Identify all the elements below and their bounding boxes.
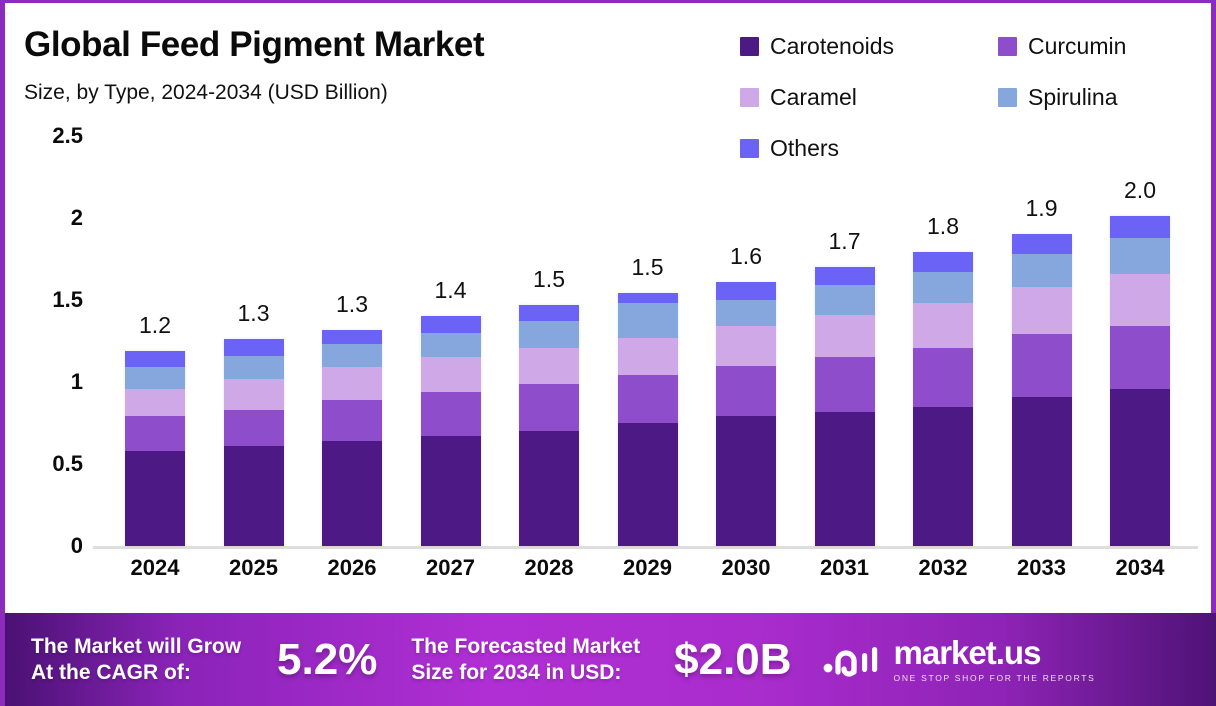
y-axis-tick: 0.5 <box>52 451 83 477</box>
bar-column[interactable]: 1.9 <box>1012 234 1072 546</box>
market-us-logo-icon <box>822 641 884 679</box>
bar-value-label: 1.9 <box>1026 195 1058 222</box>
bar-segment-others[interactable] <box>125 351 185 367</box>
bar-segment-carotenoids[interactable] <box>1012 397 1072 546</box>
bar-segment-caramel[interactable] <box>1110 274 1170 326</box>
bar-segment-spirulina[interactable] <box>1110 238 1170 274</box>
bar-segment-caramel[interactable] <box>224 379 284 410</box>
logo-text: market.us ONE STOP SHOP FOR THE REPORTS <box>894 636 1096 683</box>
x-axis-tick: 2034 <box>1091 555 1189 581</box>
stacked-bar[interactable] <box>1110 216 1170 546</box>
bar-value-label: 1.3 <box>238 300 270 327</box>
bar-segment-carotenoids[interactable] <box>421 436 481 546</box>
bar-segment-others[interactable] <box>322 330 382 345</box>
forecast-label: The Forecasted Market Size for 2034 in U… <box>411 634 640 685</box>
bar-segment-spirulina[interactable] <box>125 367 185 388</box>
legend-item-label: Caramel <box>770 84 857 111</box>
bar-segment-carotenoids[interactable] <box>519 431 579 546</box>
bar-segment-spirulina[interactable] <box>815 285 875 315</box>
bar-segment-others[interactable] <box>421 316 481 332</box>
bar-segment-carotenoids[interactable] <box>815 412 875 546</box>
infographic-root: Global Feed Pigment Market Size, by Type… <box>0 0 1216 706</box>
bar-segment-curcumin[interactable] <box>224 410 284 446</box>
x-axis-baseline <box>93 546 1198 549</box>
bar-segment-caramel[interactable] <box>1012 287 1072 335</box>
x-axis-tick: 2024 <box>106 555 204 581</box>
stacked-bar[interactable] <box>913 252 973 546</box>
y-axis-tick: 2.5 <box>52 123 83 149</box>
bar-segment-caramel[interactable] <box>913 303 973 347</box>
bar-segment-spirulina[interactable] <box>421 333 481 358</box>
market-us-logo[interactable]: market.us ONE STOP SHOP FOR THE REPORTS <box>822 636 1096 683</box>
bar-segment-caramel[interactable] <box>125 389 185 417</box>
forecast-label-line2: Size for 2034 in USD: <box>411 660 640 686</box>
bar-segment-spirulina[interactable] <box>1012 254 1072 287</box>
bar-segment-others[interactable] <box>716 282 776 300</box>
bar-segment-others[interactable] <box>519 305 579 321</box>
cagr-label: The Market will Grow At the CAGR of: <box>31 634 241 685</box>
forecast-value: $2.0B <box>674 635 791 685</box>
x-axis-tick: 2031 <box>796 555 894 581</box>
bar-column[interactable]: 1.4 <box>421 316 481 546</box>
y-axis: 00.511.522.5 <box>5 113 93 553</box>
bar-value-label: 1.5 <box>632 254 664 281</box>
bar-segment-curcumin[interactable] <box>1110 326 1170 388</box>
stacked-bar[interactable] <box>125 351 185 546</box>
bar-value-label: 2.0 <box>1124 177 1156 204</box>
bar-segment-curcumin[interactable] <box>125 416 185 450</box>
bar-value-label: 1.7 <box>829 228 861 255</box>
legend-item-label: Carotenoids <box>770 33 894 60</box>
bar-segment-spirulina[interactable] <box>519 321 579 347</box>
bar-column[interactable]: 1.8 <box>913 252 973 546</box>
x-axis-labels: 2024202520262027202820292030203120322033… <box>93 555 1198 595</box>
bar-segment-caramel[interactable] <box>618 338 678 376</box>
x-axis-tick: 2028 <box>500 555 598 581</box>
bar-value-label: 1.4 <box>435 277 467 304</box>
bar-segment-curcumin[interactable] <box>519 384 579 432</box>
bar-column[interactable]: 2.0 <box>1110 216 1170 546</box>
bar-column[interactable]: 1.3 <box>322 330 382 546</box>
bar-segment-caramel[interactable] <box>519 348 579 384</box>
cagr-value: 5.2% <box>277 635 377 685</box>
legend-item-label: Spirulina <box>1028 84 1118 111</box>
cagr-label-line1: The Market will Grow <box>31 634 241 660</box>
bar-column[interactable]: 1.7 <box>815 267 875 546</box>
stacked-bar[interactable] <box>224 339 284 546</box>
cagr-label-line2: At the CAGR of: <box>31 660 241 686</box>
x-axis-tick: 2030 <box>697 555 795 581</box>
legend-item-carotenoids[interactable]: Carotenoids <box>740 21 998 72</box>
bar-segment-others[interactable] <box>913 252 973 272</box>
forecast-label-line1: The Forecasted Market <box>411 634 640 660</box>
bar-value-label: 1.8 <box>927 213 959 240</box>
bar-segment-curcumin[interactable] <box>815 357 875 411</box>
stacked-bar[interactable] <box>519 305 579 546</box>
y-axis-tick: 1.5 <box>52 287 83 313</box>
bar-segment-curcumin[interactable] <box>1012 334 1072 396</box>
x-axis-tick: 2033 <box>993 555 1091 581</box>
legend-swatch-icon <box>740 37 759 56</box>
bars-container: 1.21.31.31.41.51.51.61.71.81.92.0 <box>93 113 1198 546</box>
bar-segment-caramel[interactable] <box>322 367 382 400</box>
bar-segment-carotenoids[interactable] <box>618 423 678 546</box>
legend-swatch-icon <box>998 37 1017 56</box>
legend-swatch-icon <box>740 88 759 107</box>
bar-segment-curcumin[interactable] <box>421 392 481 436</box>
x-axis-tick: 2027 <box>402 555 500 581</box>
bar-segment-others[interactable] <box>1012 234 1072 254</box>
chart-plot-area: 00.511.522.5 1.21.31.31.41.51.51.61.71.8… <box>5 113 1211 613</box>
bar-segment-others[interactable] <box>224 339 284 355</box>
bar-segment-carotenoids[interactable] <box>716 416 776 546</box>
legend-swatch-icon <box>998 88 1017 107</box>
y-axis-tick: 1 <box>71 369 83 395</box>
bar-segment-others[interactable] <box>815 267 875 285</box>
logo-tagline: ONE STOP SHOP FOR THE REPORTS <box>894 673 1096 683</box>
stacked-bar[interactable] <box>618 293 678 546</box>
bar-segment-spirulina[interactable] <box>716 300 776 326</box>
y-axis-tick: 2 <box>71 205 83 231</box>
stacked-bar[interactable] <box>421 316 481 546</box>
bar-segment-spirulina[interactable] <box>618 303 678 337</box>
bar-segment-spirulina[interactable] <box>322 344 382 367</box>
logo-name: market.us <box>894 636 1096 669</box>
x-axis-tick: 2029 <box>599 555 697 581</box>
legend-item-curcumin[interactable]: Curcumin <box>998 21 1198 72</box>
bar-segment-caramel[interactable] <box>716 326 776 365</box>
bar-column[interactable]: 1.3 <box>224 339 284 546</box>
bar-segment-caramel[interactable] <box>815 315 875 358</box>
x-axis-tick: 2032 <box>894 555 992 581</box>
bar-value-label: 1.2 <box>139 312 171 339</box>
page-subtitle: Size, by Type, 2024-2034 (USD Billion) <box>24 81 388 105</box>
bar-segment-carotenoids[interactable] <box>125 451 185 546</box>
stacked-bar[interactable] <box>716 282 776 546</box>
bar-column[interactable]: 1.2 <box>125 351 185 546</box>
bar-segment-curcumin[interactable] <box>618 375 678 423</box>
bar-column[interactable]: 1.6 <box>716 282 776 546</box>
bar-segment-curcumin[interactable] <box>716 366 776 417</box>
bar-column[interactable]: 1.5 <box>519 305 579 546</box>
x-axis-tick: 2025 <box>205 555 303 581</box>
bar-segment-carotenoids[interactable] <box>224 446 284 546</box>
bar-segment-spirulina[interactable] <box>224 356 284 379</box>
bar-segment-curcumin[interactable] <box>322 400 382 441</box>
stacked-bar[interactable] <box>322 330 382 546</box>
bar-segment-carotenoids[interactable] <box>1110 389 1170 546</box>
bar-segment-caramel[interactable] <box>421 357 481 391</box>
bar-value-label: 1.5 <box>533 266 565 293</box>
bar-segment-carotenoids[interactable] <box>322 441 382 546</box>
bar-column[interactable]: 1.5 <box>618 293 678 546</box>
bar-segment-others[interactable] <box>618 293 678 303</box>
bottom-banner: The Market will Grow At the CAGR of: 5.2… <box>5 613 1216 706</box>
bar-segment-others[interactable] <box>1110 216 1170 237</box>
bar-value-label: 1.6 <box>730 243 762 270</box>
stacked-bar[interactable] <box>1012 234 1072 546</box>
y-axis-tick: 0 <box>71 533 83 559</box>
bar-segment-carotenoids[interactable] <box>913 407 973 546</box>
stacked-bar[interactable] <box>815 267 875 546</box>
x-axis-tick: 2026 <box>303 555 401 581</box>
bar-segment-spirulina[interactable] <box>913 272 973 303</box>
page-title: Global Feed Pigment Market <box>24 25 484 65</box>
bar-value-label: 1.3 <box>336 291 368 318</box>
bar-segment-curcumin[interactable] <box>913 348 973 407</box>
legend-item-label: Curcumin <box>1028 33 1126 60</box>
